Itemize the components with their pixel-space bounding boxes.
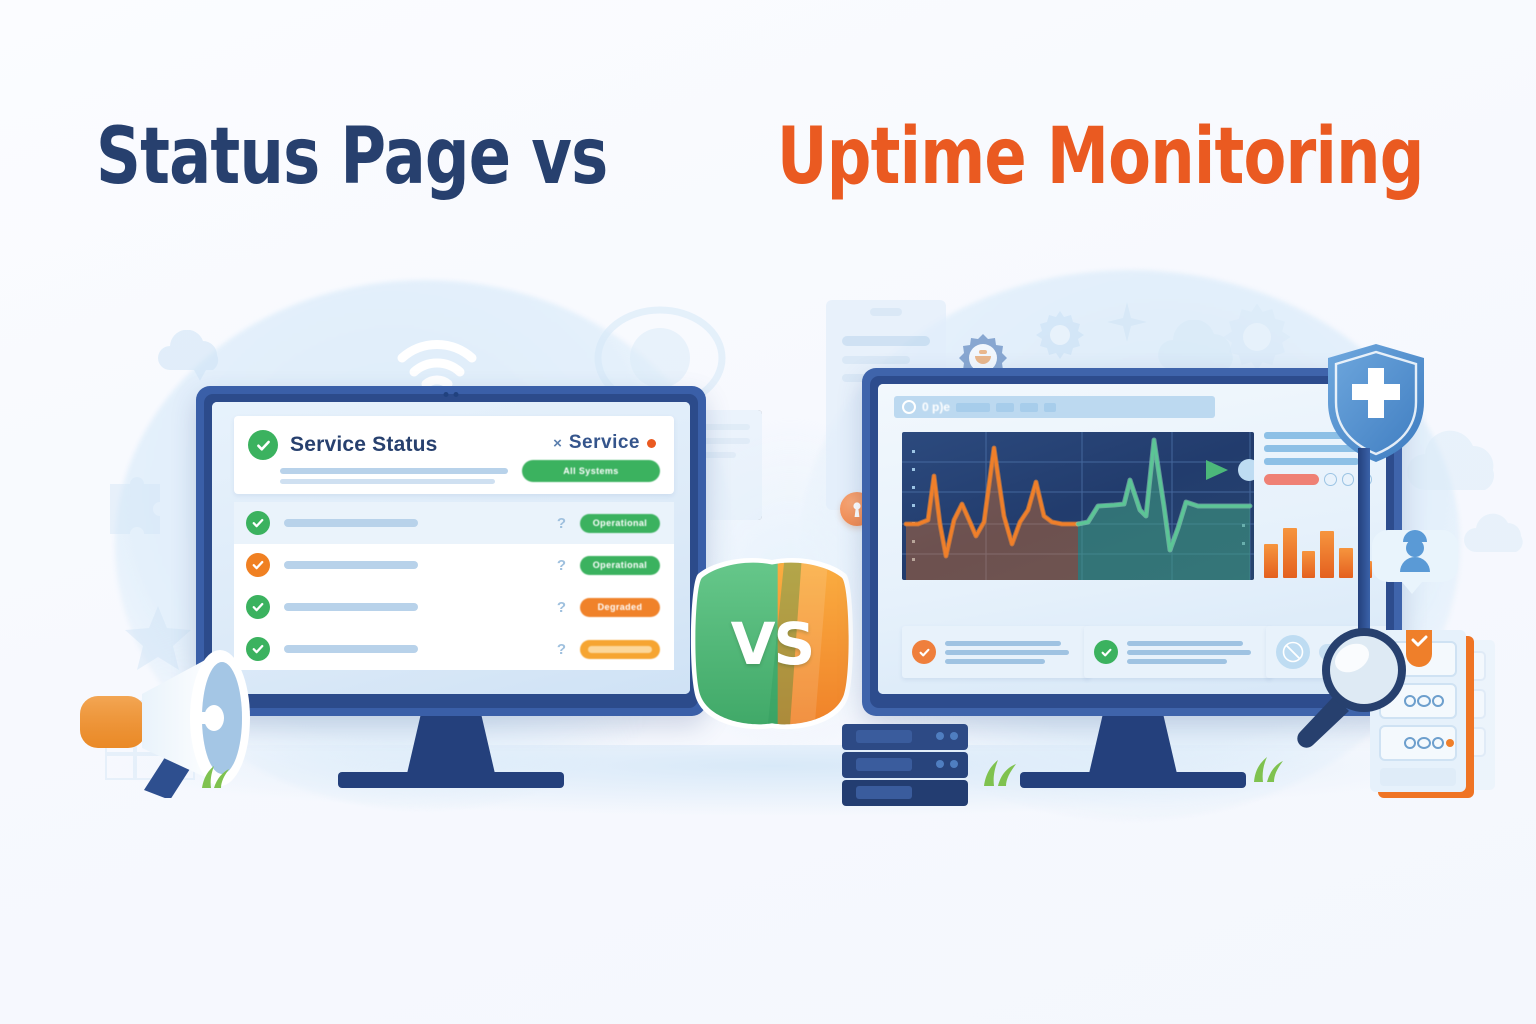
skeleton-lines	[1127, 637, 1262, 668]
monitor-stand-base	[1020, 772, 1246, 788]
status-brandmark: × Service	[553, 432, 656, 454]
uptime-chart	[902, 432, 1254, 580]
bar	[1302, 551, 1316, 578]
check-circle-icon	[246, 553, 270, 577]
usage-bar-chart	[1264, 502, 1372, 578]
row-marker: ?	[557, 557, 566, 574]
page-title: Status Page vs Uptime Monitoring	[0, 118, 1536, 196]
ring-icon	[1324, 473, 1337, 486]
alert-bar	[1264, 474, 1319, 485]
address-text: 0 p)e	[922, 400, 950, 414]
table-row[interactable]: ? Degraded	[234, 586, 674, 629]
status-page-heading: Service Status	[290, 433, 438, 457]
bar	[1339, 548, 1353, 578]
gear-icon	[1030, 305, 1090, 365]
check-circle-icon	[248, 430, 278, 460]
skeleton-line	[284, 519, 418, 527]
close-icon: ×	[553, 435, 562, 452]
row-marker: ?	[557, 599, 566, 616]
grass-decoration	[1248, 752, 1292, 787]
table-row[interactable]: ? Operational	[234, 502, 674, 545]
table-row[interactable]: ? Operational	[234, 544, 674, 587]
monitor-stand-neck	[406, 716, 496, 778]
bar	[1283, 528, 1297, 578]
check-circle-icon	[246, 595, 270, 619]
bar	[1320, 531, 1334, 578]
row-marker: ?	[557, 641, 566, 658]
title-right: Uptime Monitoring	[777, 118, 1424, 196]
bar	[1264, 544, 1278, 578]
monitor-stand-neck	[1088, 716, 1178, 778]
sparkle-icon	[1105, 300, 1149, 344]
server-rack-stack	[840, 722, 990, 817]
skeleton-lines	[945, 637, 1080, 668]
brand-wordmark: Service	[569, 432, 640, 454]
status-badge	[580, 640, 660, 659]
check-circle-icon	[246, 511, 270, 535]
row-marker: ?	[557, 515, 566, 532]
metric-card[interactable]	[902, 626, 1090, 678]
grass-decoration	[978, 756, 1026, 791]
status-badge: All Systems	[522, 460, 660, 482]
monitor-stand-base	[338, 772, 564, 788]
skeleton-line	[280, 468, 508, 474]
shield-health-icon	[1324, 342, 1428, 469]
puzzle-icon	[100, 470, 170, 540]
support-agent-icon	[1370, 520, 1460, 603]
skeleton-line	[284, 645, 418, 653]
megaphone-icon	[62, 638, 292, 803]
webcam-dots	[444, 392, 459, 397]
vs-label: VS	[686, 556, 858, 731]
cloud-icon	[150, 330, 240, 386]
illustration-canvas: Status Page vs Uptime Monitoring	[0, 0, 1536, 1024]
skeleton-line	[284, 561, 418, 569]
skeleton-line	[280, 479, 495, 484]
browser-address-bar[interactable]: 0 p)e	[894, 396, 1215, 418]
table-row[interactable]: ?	[234, 628, 674, 670]
status-badge: Operational	[580, 556, 660, 575]
brand-dot-icon	[647, 439, 656, 448]
globe-icon	[902, 400, 916, 414]
check-circle-icon	[912, 640, 936, 664]
grass-decoration	[196, 762, 246, 793]
status-badge: Operational	[580, 514, 660, 533]
vs-shield-badge: VS	[686, 556, 858, 731]
skeleton-line	[284, 603, 418, 611]
title-left: Status Page vs	[96, 118, 608, 196]
ring-icon	[1342, 473, 1355, 486]
status-badge: Degraded	[580, 598, 660, 617]
status-header-card: Service Status × Service All Systems	[234, 416, 674, 494]
check-circle-icon	[1094, 640, 1118, 664]
metric-card[interactable]	[1084, 626, 1272, 678]
magnifier-icon	[1288, 620, 1418, 755]
cloud-icon	[1460, 510, 1530, 560]
